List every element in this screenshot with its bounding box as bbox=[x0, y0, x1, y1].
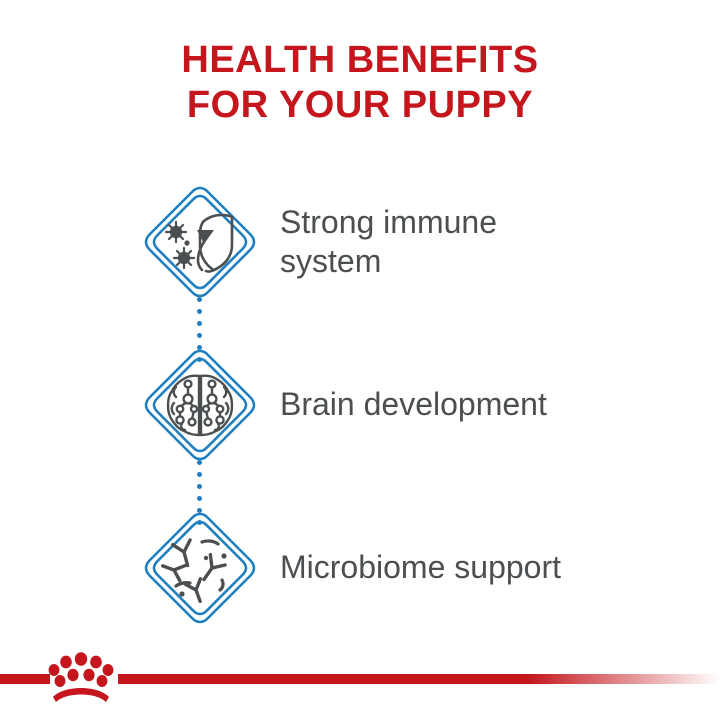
benefit-label-brain: Brain development bbox=[280, 385, 547, 424]
health-benefits-infographic: HEALTH BENEFITS FOR YOUR PUPPY bbox=[0, 0, 720, 720]
benefit-row-immune: Strong immune system bbox=[0, 160, 720, 323]
page-title-line-1: HEALTH BENEFITS bbox=[0, 38, 720, 83]
benefit-label-microbiome: Microbiome support bbox=[280, 548, 561, 587]
benefit-row-microbiome: Microbiome support bbox=[0, 486, 720, 649]
footer-rule-right bbox=[118, 674, 720, 684]
footer-rule-left bbox=[0, 674, 50, 684]
benefits-list: Strong immune system bbox=[0, 160, 720, 649]
shield-germs-icon bbox=[140, 182, 260, 302]
connector-dots-1 bbox=[197, 297, 203, 369]
benefit-row-brain: Brain development bbox=[0, 323, 720, 486]
page-title: HEALTH BENEFITS FOR YOUR PUPPY bbox=[0, 38, 720, 128]
connector-dots-2 bbox=[197, 460, 203, 532]
page-title-line-2: FOR YOUR PUPPY bbox=[0, 83, 720, 128]
royal-canin-crown-logo bbox=[46, 650, 116, 708]
benefit-label-immune: Strong immune system bbox=[280, 203, 580, 281]
brand-footer bbox=[0, 642, 720, 720]
